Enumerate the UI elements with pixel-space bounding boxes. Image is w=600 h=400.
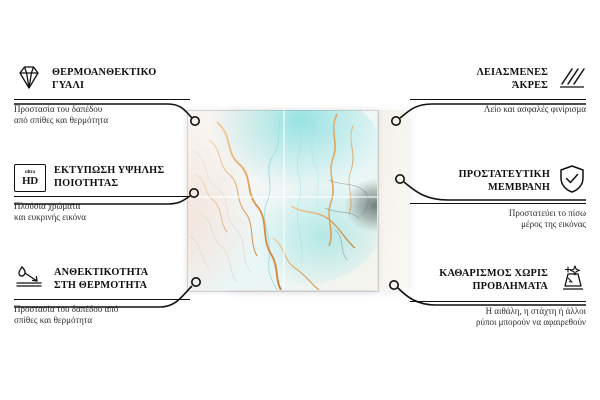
feature-heat-resistance: ΑΝΘΕΚΤΙΚΟΤΗΤΑ ΣΤΗ ΘΕΡΜΟΤΗΤΑ Προστασία το… (14, 264, 190, 327)
feature-desc-line1: Λείο και ασφαλές φινίρισμα (484, 104, 586, 114)
feature-desc-line1: Προστασία του δαπέδου (14, 104, 102, 114)
heat-resistance-icon (14, 264, 46, 295)
feature-divider (410, 99, 586, 100)
feature-header: ΛΕΙΑΣΜΕΝΕΣ ΆΚΡΕΣ (410, 64, 586, 95)
feature-divider (14, 299, 190, 300)
marble-artwork (187, 110, 377, 290)
feature-desc-line2: σπίθες και θερμότητα (14, 315, 92, 325)
feature-title-line1: ΑΝΘΕΚΤΙΚΟΤΗΤΑ (54, 267, 148, 278)
feature-desc-line1: Η αιθάλη, η στάχτη ή άλλοι (486, 306, 586, 316)
feature-title-line2: ΠΡΟΒΛΗΜΑΤΑ (472, 281, 548, 292)
feature-desc-line2: από σπίθες και θερμότητα (14, 115, 108, 125)
feature-description: Πλούσια χρώματα και ευκρινής εικόνα (14, 201, 190, 224)
shield-check-icon (558, 164, 586, 199)
feature-title: ΛΕΙΑΣΜΕΝΕΣ ΆΚΡΕΣ (476, 67, 548, 92)
feature-easy-cleaning: ΚΑΘΑΡΙΣΜΟΣ ΧΩΡΙΣ ΠΡΟΒΛΗΜΑΤΑ Η (410, 264, 586, 329)
polished-edges-icon (556, 64, 586, 95)
feature-divider (14, 196, 190, 197)
feature-title-line1: ΛΕΙΑΣΜΕΝΕΣ (476, 67, 548, 78)
feature-title-line1: ΕΚΤΥΠΩΣΗ ΥΨΗΛΗΣ (54, 165, 164, 176)
feature-desc-line2: και ευκρινής εικόνα (14, 212, 86, 222)
feature-title-line2: ΆΚΡΕΣ (512, 80, 548, 91)
feature-title: ΚΑΘΑΡΙΣΜΟΣ ΧΩΡΙΣ ΠΡΟΒΛΗΜΑΤΑ (439, 268, 548, 293)
feature-divider (14, 99, 190, 100)
hd-label: HD (22, 176, 38, 187)
feature-title: ΘΕΡΜΟΑΝΘΕΚΤΙΚΟ ΓΥΑΛΙ (52, 67, 156, 92)
feature-divider (410, 301, 586, 302)
feature-header: ΠΡΟΣΤΑΤΕΥΤΙΚΗ ΜΕΜΒΡΑΝΗ (410, 164, 586, 199)
feature-description: Προστασία του δαπέδου από σπίθες και θερ… (14, 304, 190, 327)
infographic-stage: ΘΕΡΜΟΑΝΘΕΚΤΙΚΟ ΓΥΑΛΙ Προστασία του δαπέδ… (0, 0, 600, 400)
feature-title-line1: ΚΑΘΑΡΙΣΜΟΣ ΧΩΡΙΣ (439, 268, 548, 279)
feature-heat-resistant-glass: ΘΕΡΜΟΑΝΘΕΚΤΙΚΟ ΓΥΑΛΙ Προστασία του δαπέδ… (14, 64, 190, 127)
feature-title-line1: ΘΕΡΜΟΑΝΘΕΚΤΙΚΟ (52, 67, 156, 78)
feature-title-line2: ΜΕΜΒΡΑΝΗ (488, 182, 550, 193)
feature-desc-line2: μέρος της εικόνας (521, 219, 586, 229)
feature-desc-line1: Προστασία του δαπέδου από (14, 304, 118, 314)
feature-desc-line1: Προστατεύει το πίσω (509, 208, 586, 218)
feature-high-quality-print: ultra HD ΕΚΤΥΠΩΣΗ ΥΨΗΛΗΣ ΠΟΙΟΤΗΤΑΣ Πλούσ… (14, 164, 190, 224)
feature-header: ΘΕΡΜΟΑΝΘΕΚΤΙΚΟ ΓΥΑΛΙ (14, 64, 190, 95)
ultra-label: ultra (25, 170, 35, 175)
feature-header: ultra HD ΕΚΤΥΠΩΣΗ ΥΨΗΛΗΣ ΠΟΙΟΤΗΤΑΣ (14, 164, 190, 192)
feature-title-line2: ΣΤΗ ΘΕΡΜΟΤΗΤΑ (54, 280, 147, 291)
feature-desc-line1: Πλούσια χρώματα (14, 201, 80, 211)
feature-divider (410, 203, 586, 204)
feature-description: Η αιθάλη, η στάχτη ή άλλοι ρύποι μπορούν… (410, 306, 586, 329)
feature-protective-membrane: ΠΡΟΣΤΑΤΕΥΤΙΚΗ ΜΕΜΒΡΑΝΗ Προστατεύει το πί… (410, 164, 586, 231)
feature-title: ΑΝΘΕΚΤΙΚΟΤΗΤΑ ΣΤΗ ΘΕΡΜΟΤΗΤΑ (54, 267, 148, 292)
feature-title-line1: ΠΡΟΣΤΑΤΕΥΤΙΚΗ (459, 169, 550, 180)
feature-title: ΠΡΟΣΤΑΤΕΥΤΙΚΗ ΜΕΜΒΡΑΝΗ (459, 169, 550, 194)
diamond-icon (14, 64, 44, 95)
feature-header: ΚΑΘΑΡΙΣΜΟΣ ΧΩΡΙΣ ΠΡΟΒΛΗΜΑΤΑ (410, 264, 586, 297)
feature-description: Προστασία του δαπέδου από σπίθες και θερ… (14, 104, 190, 127)
feature-title-line2: ΠΟΙΟΤΗΤΑΣ (54, 178, 118, 189)
product-glass-panel (187, 110, 377, 290)
easy-cleaning-icon (556, 264, 586, 297)
feature-polished-edges: ΛΕΙΑΣΜΕΝΕΣ ΆΚΡΕΣ Λείο και ασφαλές φινίρι… (410, 64, 586, 115)
feature-title-line2: ΓΥΑΛΙ (52, 80, 84, 91)
ultra-hd-icon: ultra HD (14, 164, 46, 192)
feature-description: Προστατεύει το πίσω μέρος της εικόνας (410, 208, 586, 231)
feature-desc-line2: ρύποι μπορούν να αφαιρεθούν (476, 317, 586, 327)
feature-title: ΕΚΤΥΠΩΣΗ ΥΨΗΛΗΣ ΠΟΙΟΤΗΤΑΣ (54, 165, 164, 190)
feature-description: Λείο και ασφαλές φινίρισμα (410, 104, 586, 115)
feature-header: ΑΝΘΕΚΤΙΚΟΤΗΤΑ ΣΤΗ ΘΕΡΜΟΤΗΤΑ (14, 264, 190, 295)
